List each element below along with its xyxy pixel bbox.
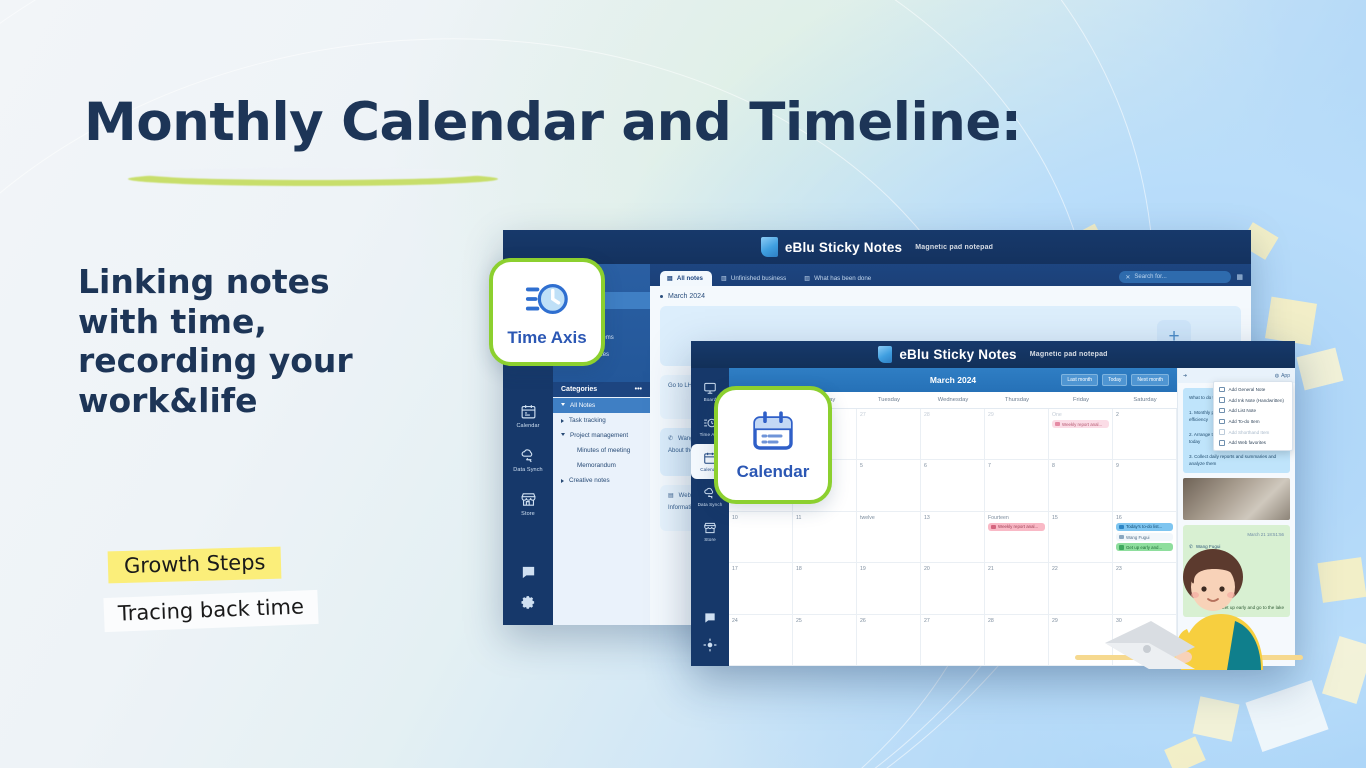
category-row[interactable]: Creative notes: [553, 473, 650, 488]
calendar-day-cell[interactable]: 8: [1049, 460, 1113, 511]
confetti-paper: [1192, 696, 1239, 741]
day-number: 13: [924, 515, 981, 521]
category-row[interactable]: Task tracking: [553, 413, 650, 428]
gear-icon[interactable]: [520, 594, 537, 611]
list-icon: [1219, 408, 1225, 414]
calendar-icon: [749, 408, 797, 456]
calendar-day-cell[interactable]: 18: [793, 563, 857, 614]
categories-list: All NotesTask trackingProject management…: [553, 397, 650, 625]
menu-item-label: Add To-do Item: [1229, 419, 1260, 424]
day-number: 11: [796, 515, 853, 521]
add-note-menu: Add General NoteAdd Ink Note (Handwritte…: [1213, 381, 1293, 451]
menu-item-add-shorthand-item[interactable]: Add Shorthand Item: [1214, 427, 1292, 438]
store-icon: [703, 521, 717, 535]
event-type-icon: [991, 525, 996, 530]
day-number: 28: [924, 412, 981, 418]
day-number: 18: [796, 566, 853, 572]
calendar-button-next-month[interactable]: Next month: [1131, 374, 1169, 386]
app-label: App: [1281, 373, 1290, 379]
more-options-icon[interactable]: •••: [635, 386, 642, 393]
search-icon: ✕: [1125, 274, 1130, 281]
day-number: 27: [860, 412, 917, 418]
note-add-icon: [1219, 387, 1225, 393]
day-number: 26: [860, 618, 917, 624]
day-number: 19: [860, 566, 917, 572]
event-label: Weekly report anal...: [998, 524, 1038, 529]
chevron-down-icon[interactable]: [561, 403, 565, 408]
chevron-down-icon[interactable]: [561, 433, 565, 438]
calendar-button-today[interactable]: Today: [1102, 374, 1127, 386]
clock-timeline-icon: [524, 276, 570, 322]
menu-item-add-ink-note-handwritten[interactable]: Add Ink Note (Handwritten): [1214, 395, 1292, 406]
category-row[interactable]: Minutes of meeting: [553, 443, 650, 458]
day-number: 16: [1116, 515, 1173, 521]
menu-item-label: Add Shorthand Item: [1229, 430, 1270, 435]
back-tabbar: ▤ All notes ▥ Unfinished business ▥ What…: [650, 264, 1251, 286]
category-label: Memorandum: [577, 462, 616, 469]
day-number: 5: [860, 463, 917, 469]
tab-all-notes[interactable]: ▤ All notes: [660, 271, 712, 286]
day-number: twelve: [860, 515, 917, 521]
store-icon: [520, 491, 537, 508]
calendar-day-cell[interactable]: 28: [921, 409, 985, 460]
bullet-icon: [660, 295, 663, 298]
note-icon: ▤: [667, 275, 673, 282]
note-title: Web: [679, 492, 691, 501]
board-icon: [703, 381, 717, 395]
globe-icon: [1219, 440, 1225, 446]
tab-unfinished-business[interactable]: ▥ Unfinished business: [714, 271, 795, 286]
tab-label: Unfinished business: [731, 275, 786, 282]
calendar-day-cell[interactable]: 10: [729, 512, 793, 563]
calendar-day-cell[interactable]: OneWeekly report anal...: [1049, 409, 1113, 460]
search-input[interactable]: ✕ Search for...: [1119, 271, 1231, 283]
brand-subtitle: Magnetic pad notepad: [1030, 351, 1108, 358]
feature-badge-time-axis[interactable]: Time Axis: [489, 258, 605, 366]
sidebar-item-calendar[interactable]: Calendar: [503, 394, 553, 438]
weekday-header: Wednesday: [921, 392, 985, 408]
category-label: Task tracking: [569, 417, 606, 424]
categories-header: Categories •••: [553, 382, 650, 397]
brand: eBlu Sticky Notes Magnetic pad notepad: [878, 346, 1107, 363]
person-illustration: [1085, 525, 1300, 670]
menu-item-label: Add General Note: [1229, 387, 1266, 392]
page-title: Monthly Calendar and Timeline:: [84, 92, 1022, 153]
day-number: 20: [924, 566, 981, 572]
notes-month-label: March 2024: [660, 293, 1241, 300]
event-type-icon: [1055, 422, 1060, 427]
calendar-icon: [520, 403, 537, 420]
day-number: 27: [924, 618, 981, 624]
menu-item-label: Add Ink Note (Handwritten): [1229, 398, 1284, 403]
menu-item-label: Add List Note: [1229, 408, 1257, 413]
collapse-arrow-icon[interactable]: ➜: [1183, 373, 1187, 379]
search-placeholder: Search for...: [1134, 274, 1166, 280]
category-label: Creative notes: [569, 477, 610, 484]
sidebar-item-store[interactable]: Store: [503, 482, 553, 526]
day-number: 7: [988, 463, 1045, 469]
calendar-event-chip[interactable]: Weekly report anal...: [988, 523, 1045, 531]
confetti-paper: [1265, 297, 1317, 346]
app-grid-icon: ◍: [1275, 373, 1279, 379]
weekday-header: Friday: [1049, 392, 1113, 408]
calendar-day-cell[interactable]: 24: [729, 615, 793, 666]
day-number: 25: [796, 618, 853, 624]
phone-icon: ✆: [668, 435, 673, 444]
category-row[interactable]: Memorandum: [553, 458, 650, 473]
calendar-day-cell[interactable]: 26: [857, 615, 921, 666]
day-number: 2: [1116, 412, 1173, 418]
front-window-titlebar: eBlu Sticky Notes Magnetic pad notepad: [691, 341, 1295, 368]
calendar-day-cell[interactable]: 29: [985, 409, 1049, 460]
menu-item-add-list-note[interactable]: Add List Note: [1214, 405, 1292, 416]
calendar-day-cell[interactable]: twelve: [857, 512, 921, 563]
calendar-day-cell[interactable]: 27: [857, 409, 921, 460]
checkbox-icon: [1219, 419, 1225, 425]
sidebar-item-label: Store: [521, 511, 535, 517]
chevron-right-icon[interactable]: [561, 479, 564, 483]
app-logo-icon: [761, 237, 778, 257]
category-label: All Notes: [570, 402, 595, 409]
calendar-day-cell[interactable]: 11: [793, 512, 857, 563]
menu-item-add-general-note[interactable]: Add General Note: [1214, 384, 1292, 395]
weekday-header: Tuesday: [857, 392, 921, 408]
calendar-day-cell[interactable]: 27: [921, 615, 985, 666]
calendar-day-cell[interactable]: 13: [921, 512, 985, 563]
sidebar-item-store[interactable]: Store: [691, 514, 729, 549]
calendar-day-cell[interactable]: 28: [985, 615, 1049, 666]
day-number: 8: [1052, 463, 1109, 469]
sidebar-item-data-synch[interactable]: Data Synch: [503, 438, 553, 482]
badge-label: Calendar: [737, 462, 810, 482]
sidebar-item-label: Data Synch: [513, 467, 542, 473]
calendar-button-last-month[interactable]: Last month: [1061, 374, 1098, 386]
day-number: 21: [988, 566, 1045, 572]
day-number: 17: [732, 566, 789, 572]
gear-icon[interactable]: [703, 638, 717, 652]
clipboard-check-icon: ▥: [804, 275, 810, 282]
sidebar-item-label: Data Synch: [698, 502, 723, 507]
calendar-day-cell[interactable]: 21: [985, 563, 1049, 614]
day-number: 10: [732, 515, 789, 521]
sidebar-item-label: Calendar: [516, 423, 539, 429]
calendar-day-cell[interactable]: 20: [921, 563, 985, 614]
back-window-titlebar: eBlu Sticky Notes Magnetic pad notepad: [503, 230, 1251, 264]
tab-what-has-been-done[interactable]: ▥ What has been done: [797, 271, 880, 286]
menu-item-label: Add Web favorites: [1229, 440, 1266, 445]
feature-badge-calendar[interactable]: Calendar: [714, 386, 832, 504]
category-label: Minutes of meeting: [577, 447, 630, 454]
category-row[interactable]: Project management: [553, 428, 650, 443]
category-label: Project management: [570, 432, 628, 439]
month-text: March 2024: [668, 293, 705, 300]
day-number: 28: [988, 618, 1045, 624]
app-logo-icon: [878, 346, 892, 363]
shorthand-icon: [1219, 429, 1225, 435]
title-underline: [128, 172, 498, 186]
message-icon[interactable]: [703, 611, 717, 625]
day-number: 29: [988, 412, 1045, 418]
day-number: One: [1052, 412, 1109, 418]
day-number: 9: [1116, 463, 1173, 469]
calendar-nav-buttons: Last monthTodayNext month: [1061, 374, 1169, 386]
brand-name: eBlu Sticky Notes: [785, 240, 902, 255]
confetti-paper: [1317, 557, 1366, 603]
pen-icon: [1219, 397, 1225, 403]
brand-subtitle: Magnetic pad notepad: [915, 244, 993, 251]
calendar-day-cell[interactable]: 5: [857, 460, 921, 511]
calendar-day-cell[interactable]: 17: [729, 563, 793, 614]
calendar-month-title: March 2024: [930, 375, 976, 385]
day-number: 15: [1052, 515, 1109, 521]
tab-label: All notes: [677, 275, 703, 282]
calendar-day-cell[interactable]: 19: [857, 563, 921, 614]
clipboard-icon: ▥: [721, 275, 727, 282]
document-icon: ▤: [668, 492, 674, 501]
tab-label: What has been done: [814, 275, 871, 282]
qr-icon[interactable]: ▦: [1236, 273, 1243, 281]
day-number: 24: [732, 618, 789, 624]
cloud-sync-icon: [520, 447, 537, 464]
tag-growth-steps: Growth Steps: [108, 547, 282, 584]
weekday-header: Thursday: [985, 392, 1049, 408]
calendar-day-cell[interactable]: 9: [1113, 460, 1177, 511]
message-icon[interactable]: [520, 564, 537, 581]
event-label: Weekly report anal...: [1062, 422, 1102, 427]
calendar-day-cell[interactable]: 7: [985, 460, 1049, 511]
category-row[interactable]: All Notes: [553, 398, 650, 413]
calendar-event-chip[interactable]: Weekly report anal...: [1052, 420, 1109, 428]
calendar-day-cell[interactable]: FourteenWeekly report anal...: [985, 512, 1049, 563]
sidebar-item-label: Store: [704, 537, 715, 542]
brand: eBlu Sticky Notes Magnetic pad notepad: [761, 237, 993, 257]
calendar-day-cell[interactable]: 25: [793, 615, 857, 666]
categories-title: Categories: [561, 386, 597, 393]
menu-item-add-web-favorites[interactable]: Add Web favorites: [1214, 437, 1292, 448]
menu-item-add-to-do-item[interactable]: Add To-do Item: [1214, 416, 1292, 427]
badge-label: Time Axis: [507, 328, 586, 348]
weekday-header: Saturday: [1113, 392, 1177, 408]
note-photo: [1183, 478, 1290, 520]
day-number: 6: [924, 463, 981, 469]
calendar-day-cell[interactable]: 6: [921, 460, 985, 511]
calendar-day-cell[interactable]: 2: [1113, 409, 1177, 460]
subtitle: Linking notes with time, recording your …: [78, 262, 408, 420]
day-number: Fourteen: [988, 515, 1045, 521]
brand-name: eBlu Sticky Notes: [899, 347, 1016, 362]
chevron-right-icon[interactable]: [561, 419, 564, 423]
